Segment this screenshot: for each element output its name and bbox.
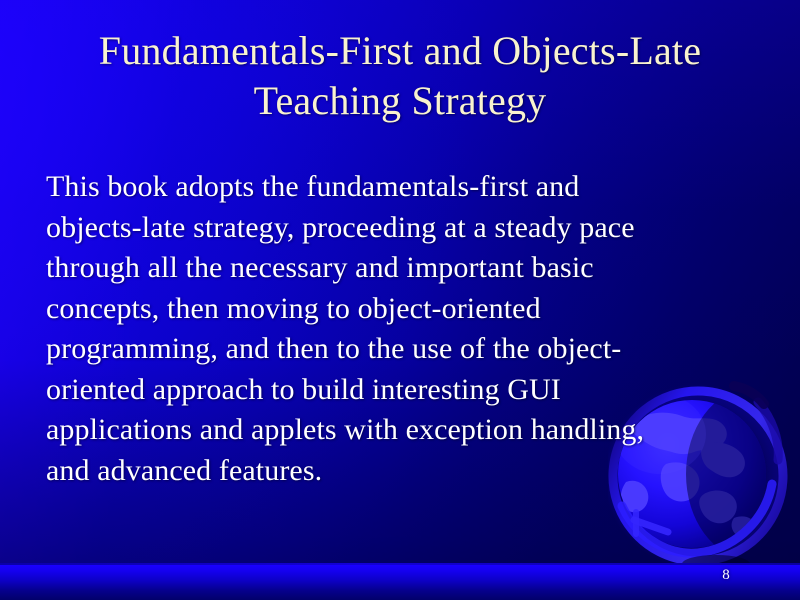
slide-body-line-6: oriented approach to build interesting G… bbox=[46, 370, 758, 411]
slide-body-line-3: through all the necessary and important … bbox=[46, 248, 758, 289]
slide-title-line-2: Teaching Strategy bbox=[28, 76, 772, 126]
slide-body-line-2: objects-late strategy, proceeding at a s… bbox=[46, 208, 758, 249]
slide-title: Fundamentals-First and Objects-Late Teac… bbox=[28, 26, 772, 126]
slide-body-line-7: applications and applets with exception … bbox=[46, 410, 758, 451]
slide-canvas: Fundamentals-First and Objects-Late Teac… bbox=[0, 0, 800, 600]
slide-title-line-1: Fundamentals-First and Objects-Late bbox=[28, 26, 772, 76]
slide-body-line-8: and advanced features. bbox=[46, 451, 758, 492]
slide-body-text: This book adopts the fundamentals-first … bbox=[46, 167, 758, 491]
slide-body-line-4: concepts, then moving to object-oriented bbox=[46, 289, 758, 330]
bottom-accent-band bbox=[0, 565, 800, 600]
page-number: 8 bbox=[706, 566, 746, 584]
slide-body-line-5: programming, and then to the use of the … bbox=[46, 329, 758, 370]
slide-body-line-1: This book adopts the fundamentals-first … bbox=[46, 167, 758, 208]
